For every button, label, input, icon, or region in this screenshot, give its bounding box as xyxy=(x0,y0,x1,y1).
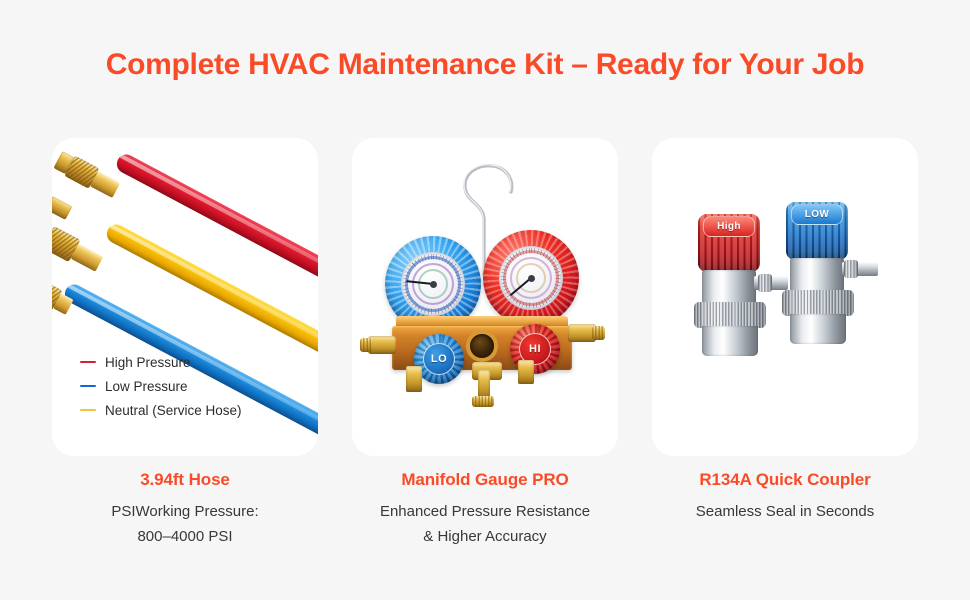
legend-label: Low Pressure xyxy=(105,379,188,394)
fitting-hex-nut xyxy=(52,196,72,220)
manifold-sight-glass-port xyxy=(470,334,494,358)
coupler-knob-label: High xyxy=(703,216,755,237)
product-card-hose[interactable]: High Pressure Low Pressure Neutral (Serv… xyxy=(52,138,318,456)
hose-fitting-yellow xyxy=(52,221,107,274)
hose-fitting-red xyxy=(54,151,125,201)
product-card-row: High Pressure Low Pressure Neutral (Serv… xyxy=(0,138,970,456)
caption-line: 800–4000 PSI xyxy=(35,524,335,549)
coupler-knurled-sleeve[interactable] xyxy=(782,290,854,316)
manifold-bottom-fitting-left xyxy=(406,366,422,392)
coupler-hex-body xyxy=(790,258,844,292)
product-card-coupler[interactable]: High LOW xyxy=(652,138,918,456)
high-side-gauge xyxy=(483,230,579,326)
caption-line: & Higher Accuracy xyxy=(335,524,635,549)
coupler-hex-body xyxy=(702,270,756,304)
legend-dash-icon xyxy=(80,409,96,411)
manifold-bottom-knurl xyxy=(472,396,494,407)
caption-title: Manifold Gauge PRO xyxy=(335,470,635,490)
low-side-coupler: LOW xyxy=(774,202,892,362)
knob-label: LO xyxy=(423,343,455,375)
legend-label: Neutral (Service Hose) xyxy=(105,403,242,418)
coupler-knurled-sleeve[interactable] xyxy=(694,302,766,328)
coupler-knob-red[interactable]: High xyxy=(698,214,760,272)
coupler-nozzle-knurl xyxy=(844,260,858,278)
manifold-left-port xyxy=(368,336,396,354)
legend-item-neutral: Neutral (Service Hose) xyxy=(80,398,242,422)
quick-coupler-product-image: High LOW xyxy=(652,138,918,456)
legend-dash-icon xyxy=(80,361,96,363)
coupler-base-barrel xyxy=(702,326,758,356)
caption-line: Enhanced Pressure Resistance xyxy=(335,499,635,524)
product-card-manifold[interactable]: LO HI xyxy=(352,138,618,456)
caption-manifold: Manifold Gauge PRO Enhanced Pressure Res… xyxy=(335,470,635,549)
caption-title: R134A Quick Coupler xyxy=(635,470,935,490)
gauge-face xyxy=(401,252,465,316)
hose-color-legend: High Pressure Low Pressure Neutral (Serv… xyxy=(80,350,242,422)
manifold-bottom-fitting-right xyxy=(518,360,534,384)
coupler-knob-blue[interactable]: LOW xyxy=(786,202,848,260)
coupler-nozzle-knurl xyxy=(758,274,772,292)
caption-line: PSIWorking Pressure: xyxy=(35,499,335,524)
caption-title: 3.94ft Hose xyxy=(35,470,335,490)
product-feature-banner: Complete HVAC Maintenance Kit – Ready fo… xyxy=(0,0,970,600)
manifold-image-clip: LO HI xyxy=(352,138,618,456)
legend-label: High Pressure xyxy=(105,355,191,370)
caption-line: Seamless Seal in Seconds xyxy=(635,499,935,524)
fitting-collar xyxy=(90,171,120,198)
gauge-pivot xyxy=(430,281,437,288)
coupler-knob-label: LOW xyxy=(791,204,843,225)
caption-coupler: R134A Quick Coupler Seamless Seal in Sec… xyxy=(635,470,935,524)
gauge-face xyxy=(499,246,563,310)
caption-hose: 3.94ft Hose PSIWorking Pressure: 800–400… xyxy=(35,470,335,549)
manifold-left-port-knurl xyxy=(360,338,372,352)
legend-dash-icon xyxy=(80,385,96,387)
legend-item-low-pressure: Low Pressure xyxy=(80,374,242,398)
page-title: Complete HVAC Maintenance Kit – Ready fo… xyxy=(0,48,970,82)
gauge-pivot xyxy=(528,275,535,282)
manifold-right-port-knurl xyxy=(592,326,605,340)
coupler-base-barrel xyxy=(790,314,846,344)
fitting-collar xyxy=(71,244,104,272)
manifold-gauge-product-image: LO HI xyxy=(352,138,618,456)
legend-item-high-pressure: High Pressure xyxy=(80,350,242,374)
hose-fitting-stub-upper xyxy=(52,185,75,222)
coupler-image-clip: High LOW xyxy=(652,138,918,456)
